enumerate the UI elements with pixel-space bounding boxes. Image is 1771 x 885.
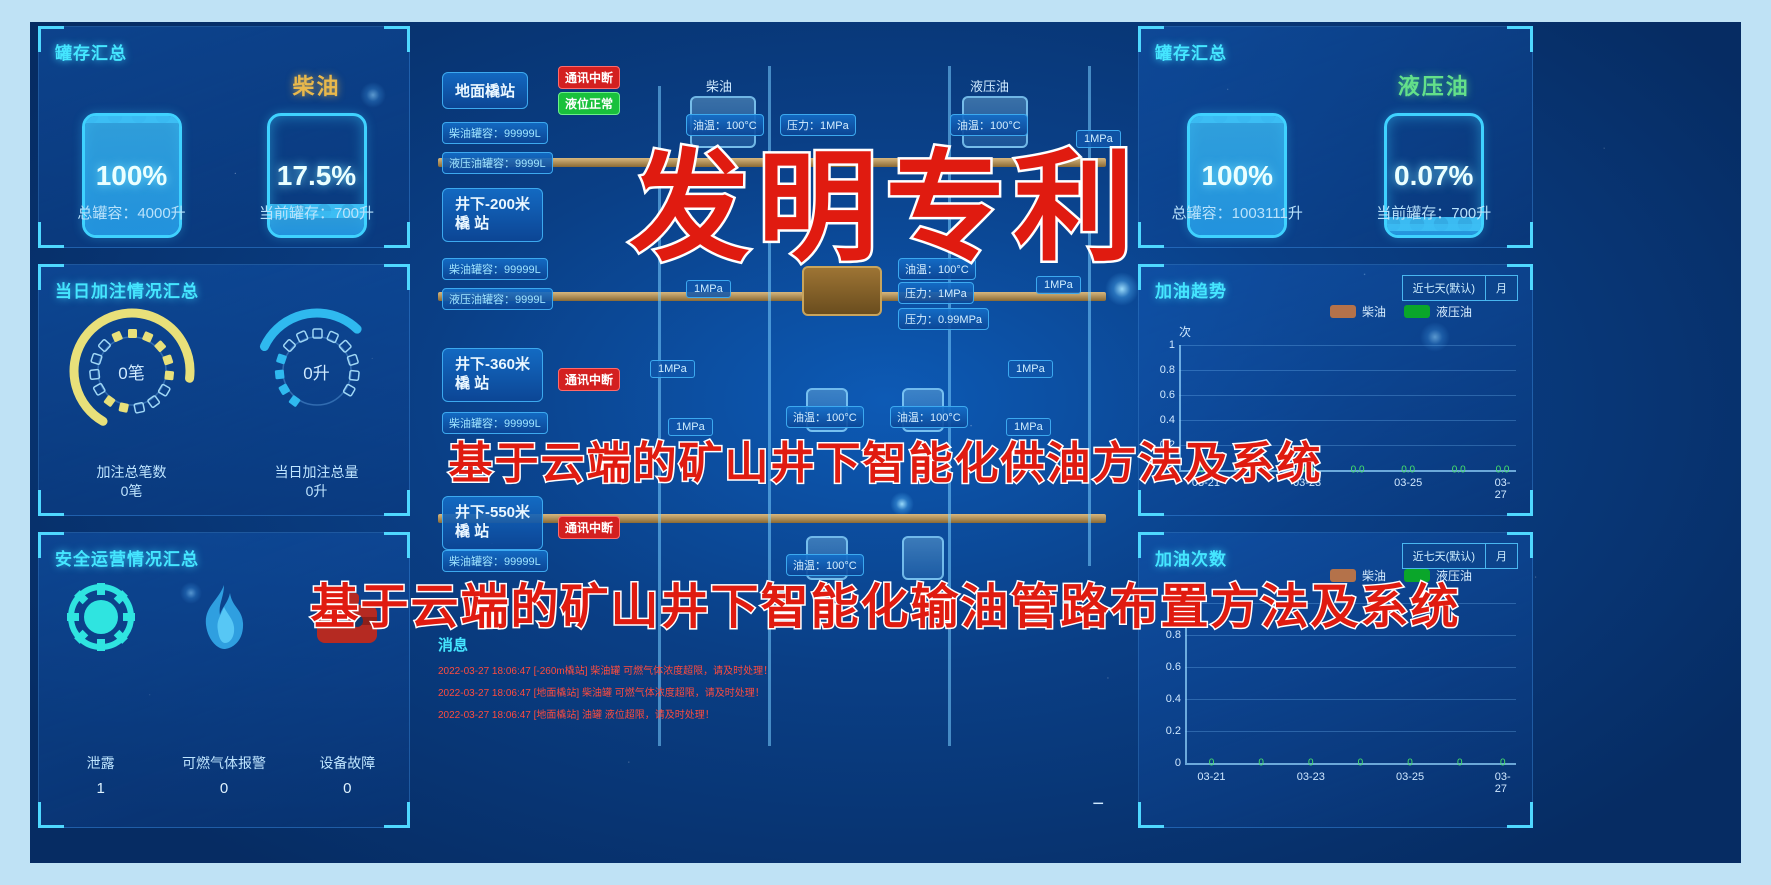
y-tick: 0.2: [1153, 725, 1181, 737]
point-label: 0: [1358, 758, 1364, 769]
safety-gas-value: 0: [220, 780, 228, 797]
tank-captions: 总罐容：1003111升 当前罐存：700升: [1139, 202, 1532, 223]
trend-legend: 柴油 液压油: [1330, 303, 1472, 320]
station-360m-line2: 橇 站: [455, 375, 489, 392]
point-label: 0: [1457, 758, 1463, 769]
readout-pressure-low: 压力：0.99MPa: [898, 308, 989, 330]
legend-swatch-diesel: [1330, 305, 1356, 318]
gauge-labels: 加注总笔数 0笔 当日加注总量 0升: [39, 463, 409, 501]
safety-fault-value: 0: [343, 780, 351, 797]
hydraulic-capacity-surface: 液压油罐容：9999L: [442, 152, 553, 174]
point-label: 0: [1500, 758, 1506, 769]
point-label: 0: [1258, 758, 1264, 769]
gridline: [1179, 345, 1516, 346]
outer-frame: 罐存汇总 100% 柴油 17.5% 总罐容：4000升 当前罐存：700升: [0, 0, 1771, 885]
gauge-count-value: 0笔: [62, 301, 202, 441]
status-level-surface: 液位正常: [558, 92, 620, 115]
total-capacity-caption: 总罐容：1003111升: [1139, 202, 1336, 223]
station-name-360m[interactable]: 井下-360米 橇 站: [442, 348, 543, 402]
watermark-main: 发明专利: [630, 110, 1142, 284]
diesel-capacity-200m: 柴油罐容：99999L: [442, 258, 548, 280]
corner-decoration: [1507, 802, 1533, 828]
message-log: 消息 2022-03-27 18:06:47 [-260m橇站] 柴油罐 可燃气…: [438, 634, 908, 721]
safety-label-gas: 可燃气体报警 0: [162, 752, 285, 801]
point-label: 0.0: [1452, 465, 1466, 476]
corner-decoration: [384, 264, 410, 290]
gauge-volume-label: 当日加注总量 0升: [224, 463, 409, 501]
flame-icon: [188, 581, 260, 653]
gear-leak-icon: [65, 581, 137, 653]
x-tick: 03-21: [1197, 771, 1225, 783]
current-stock-caption: 当前罐存：700升: [224, 202, 409, 223]
message-line: 2022-03-27 18:06:47 [地面橇站] 油罐 液位超限，请及时处理…: [438, 706, 908, 721]
readout-oil-temp: 油温：100°C: [890, 406, 968, 428]
x-tick: 03-23: [1297, 771, 1325, 783]
corner-decoration: [1507, 490, 1533, 516]
trend-range-buttons: 近七天(默认) 月: [1402, 275, 1518, 301]
panel-title: 加油趋势: [1155, 277, 1227, 302]
x-tick: 03-27: [1495, 477, 1511, 501]
safety-labels: 泄露 1 可燃气体报警 0 设备故障 0: [39, 752, 409, 801]
gridline: [1185, 731, 1516, 732]
tank-total-pct: 100%: [1201, 160, 1273, 192]
tank-label-hydraulic: 液压油: [964, 74, 1015, 97]
legend-item-hydraulic[interactable]: 液压油: [1404, 303, 1472, 320]
panel-title: 安全运营情况汇总: [55, 545, 199, 570]
gridline: [1185, 667, 1516, 668]
count-range-month-button[interactable]: 月: [1486, 543, 1518, 569]
x-axis: [1185, 763, 1516, 765]
gridline: [1179, 370, 1516, 371]
panel-title: 当日加注情况汇总: [55, 277, 199, 302]
panel-refuel-today: 当日加注情况汇总: [38, 264, 410, 516]
safety-item-leak[interactable]: [39, 581, 162, 701]
station-name-550m[interactable]: 井下-550米 橇 站: [442, 496, 543, 550]
status-comm-550m: 通讯中断: [558, 516, 620, 539]
station-name-200m[interactable]: 井下-200米 橇 站: [442, 188, 543, 242]
point-label: 0: [1308, 758, 1314, 769]
diesel-capacity-surface: 柴油罐容：99999L: [442, 122, 548, 144]
station-name-surface[interactable]: 地面橇站: [442, 72, 528, 109]
tank-label-diesel: 柴油: [700, 74, 738, 97]
corner-decoration: [1138, 490, 1164, 516]
safety-label-leak: 泄露 1: [39, 752, 162, 801]
panel-title: 罐存汇总: [55, 39, 127, 64]
tank-total-spacer: [1233, 69, 1241, 99]
trend-range-week-button[interactable]: 近七天(默认): [1402, 275, 1486, 301]
y-tick: 1: [1155, 339, 1175, 351]
legend-label-diesel: 柴油: [1362, 303, 1386, 320]
tank-total-spacer: [127, 69, 135, 99]
tank-fill: [1387, 224, 1481, 235]
gridline: [1179, 420, 1516, 421]
readout-pressure: 压力：1MPa: [898, 282, 974, 304]
watermark-line-2: 基于云端的矿山井下智能化输油管路布置方法及系统: [310, 567, 1460, 637]
gauge-count: 0笔: [62, 301, 202, 441]
watermark-line-1: 基于云端的矿山井下智能化供油方法及系统: [449, 427, 1323, 491]
message-line: 2022-03-27 18:06:47 [-260m橇站] 柴油罐 可燃气体浓度…: [438, 662, 908, 677]
message-log-title: 消息: [438, 634, 908, 655]
corner-decoration: [384, 802, 410, 828]
corner-decoration: [1507, 26, 1533, 52]
pressure-badge: 1MPa: [1008, 360, 1053, 378]
tank-current-pct: 17.5%: [277, 160, 356, 192]
legend-item-diesel[interactable]: 柴油: [1330, 303, 1386, 320]
x-tick: 03-25: [1396, 771, 1424, 783]
corner-decoration: [384, 26, 410, 52]
station-360m-line1: 井下-360米: [455, 356, 530, 373]
hydraulic-capacity-200m: 液压油罐容：9999L: [442, 288, 553, 310]
station-550m-line1: 井下-550米: [455, 504, 530, 521]
trend-y-axis-label: 次: [1179, 323, 1191, 340]
count-range-buttons: 近七天(默认) 月: [1402, 543, 1518, 569]
y-tick: 0.4: [1149, 414, 1175, 426]
y-tick: 0.6: [1149, 389, 1175, 401]
safety-gas-title: 可燃气体报警: [182, 755, 266, 771]
gauge-volume-label-line1: 当日加注总量: [275, 464, 359, 480]
gauge-row: 0笔: [39, 301, 409, 451]
gridline: [1185, 699, 1516, 700]
gridline: [1179, 395, 1516, 396]
product-label-hydraulic: 液压油: [1398, 69, 1470, 99]
legend-label-hydraulic: 液压油: [1436, 303, 1472, 320]
gauge-count-wrap: 0笔: [39, 301, 224, 451]
y-tick: 0.8: [1149, 364, 1175, 376]
safety-label-fault: 设备故障 0: [286, 752, 409, 801]
safety-item-gas[interactable]: [162, 581, 285, 701]
station-200m-line1: 井下-200米: [455, 196, 530, 213]
gauge-count-label: 加注总笔数 0笔: [39, 463, 224, 501]
point-label: 0.0: [1401, 465, 1415, 476]
point-label: 0: [1209, 758, 1215, 769]
y-tick: 0: [1161, 757, 1181, 769]
gauge-volume-value: 0升: [247, 301, 387, 441]
y-tick: 0.4: [1153, 693, 1181, 705]
gauge-volume-wrap: 0升: [224, 301, 409, 451]
status-comm-surface: 通讯中断: [558, 66, 620, 89]
readout-oil-temp: 油温：100°C: [786, 406, 864, 428]
point-label: 0.0: [1351, 465, 1365, 476]
safety-leak-title: 泄露: [87, 755, 115, 771]
safety-leak-value: 1: [96, 780, 104, 797]
status-comm-360m: 通讯中断: [558, 368, 620, 391]
trend-range-month-button[interactable]: 月: [1486, 275, 1518, 301]
message-line: 2022-03-27 18:06:47 [地面橇站] 柴油罐 可燃气体浓度超限，…: [438, 684, 908, 699]
current-stock-caption: 当前罐存：700升: [1336, 202, 1533, 223]
safety-fault-title: 设备故障: [319, 755, 375, 771]
y-tick: 0.6: [1153, 661, 1181, 673]
dashboard-screen: 罐存汇总 100% 柴油 17.5% 总罐容：4000升 当前罐存：700升: [30, 22, 1741, 863]
gauge-count-label-line2: 0笔: [121, 483, 143, 499]
point-label: 0.0: [1496, 465, 1510, 476]
corner-decoration: [38, 802, 64, 828]
x-tick: 03-25: [1394, 477, 1422, 489]
total-capacity-caption: 总罐容：4000升: [39, 202, 224, 223]
legend-swatch-hydraulic: [1404, 305, 1430, 318]
x-tick: 03-27: [1495, 771, 1511, 795]
point-label: 0: [1407, 758, 1413, 769]
product-label-diesel: 柴油: [292, 69, 340, 99]
panel-hydraulic-stock: 罐存汇总 100% 液压油 0.07% 总罐容：1003111升 当前罐存：70…: [1138, 26, 1533, 248]
station-550m-line2: 橇 站: [455, 523, 489, 540]
tank-total-pct: 100%: [96, 160, 168, 192]
tank-captions: 总罐容：4000升 当前罐存：700升: [39, 202, 409, 223]
pressure-badge: 1MPa: [650, 360, 695, 378]
gauge-volume-label-line2: 0升: [306, 483, 328, 499]
zoom-out-button[interactable]: −: [1092, 794, 1104, 814]
tank-current-pct: 0.07%: [1394, 160, 1473, 192]
station-200m-line2: 橇 站: [455, 215, 489, 232]
panel-diesel-stock: 罐存汇总 100% 柴油 17.5% 总罐容：4000升 当前罐存：700升: [38, 26, 410, 248]
gauge-volume: 0升: [247, 301, 387, 441]
panel-title: 罐存汇总: [1155, 39, 1227, 64]
count-range-week-button[interactable]: 近七天(默认): [1402, 543, 1486, 569]
corner-decoration: [1138, 802, 1164, 828]
corner-decoration: [384, 532, 410, 558]
gauge-count-label-line1: 加注总笔数: [97, 464, 167, 480]
